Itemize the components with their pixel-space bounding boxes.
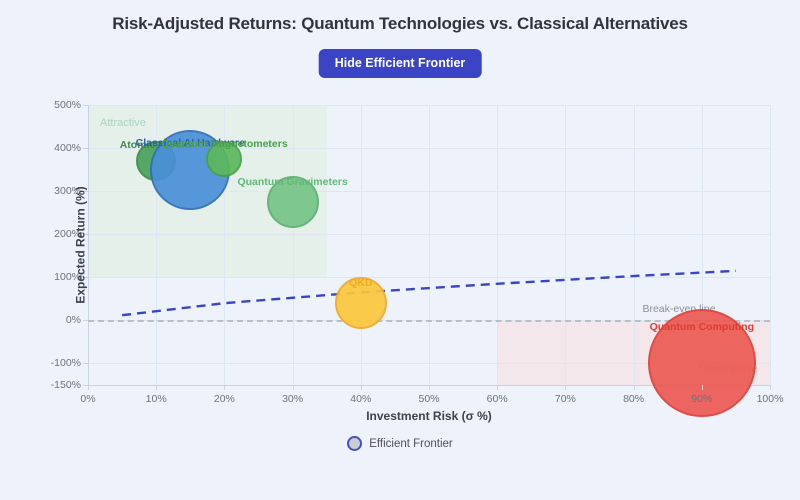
x-axis-tick-mark [224, 385, 225, 390]
y-axis-tick-mark [83, 363, 88, 364]
x-axis-tick-label: 60% [487, 393, 508, 405]
x-axis-tick-label: 40% [350, 393, 371, 405]
y-axis-tick-mark [83, 320, 88, 321]
bubble-label-quantum-computing: Quantum Computing [650, 321, 754, 333]
efficient-frontier-legend-icon [347, 436, 362, 451]
x-axis-tick-mark [770, 385, 771, 390]
toggle-efficient-frontier-button[interactable]: Hide Efficient Frontier [319, 49, 482, 78]
x-axis-tick-mark [293, 385, 294, 390]
x-axis-tick-label: 0% [80, 393, 95, 405]
page-title: Risk-Adjusted Returns: Quantum Technolog… [0, 14, 800, 34]
y-axis-tick-label: 400% [54, 142, 81, 154]
x-axis-tick-label: 70% [555, 393, 576, 405]
y-axis-title: Expected Return (%) [74, 186, 88, 303]
legend-item-label: Efficient Frontier [369, 438, 453, 450]
y-axis-tick-mark [83, 148, 88, 149]
plot-area: AttractiveUnattractiveBreak-even lineAto… [88, 105, 770, 385]
x-axis-tick-label: 80% [623, 393, 644, 405]
gridline-vertical [770, 105, 771, 385]
x-axis-tick-mark [702, 385, 703, 390]
x-axis-tick-label: 10% [146, 393, 167, 405]
bubble-label-qkd: QKD [349, 277, 372, 289]
x-axis-tick-label: 20% [214, 393, 235, 405]
x-axis-tick-mark [497, 385, 498, 390]
x-axis-tick-label: 100% [757, 393, 784, 405]
x-axis-tick-mark [634, 385, 635, 390]
x-axis-tick-mark [88, 385, 89, 390]
bubble-label-quantum-gravimeters: Quantum Gravimeters [237, 176, 347, 188]
x-axis-tick-mark [156, 385, 157, 390]
x-axis-tick-label: 90% [691, 393, 712, 405]
x-axis-tick-label: 50% [418, 393, 439, 405]
y-axis-tick-label: 500% [54, 99, 81, 111]
x-axis-tick-mark [361, 385, 362, 390]
x-axis-tick-label: 30% [282, 393, 303, 405]
x-axis-tick-mark [565, 385, 566, 390]
chart-legend: Efficient Frontier [0, 436, 800, 451]
y-axis-tick-label: 0% [66, 314, 81, 326]
x-axis-title: Investment Risk (σ %) [366, 409, 492, 423]
y-axis-tick-label: -100% [51, 357, 81, 369]
bubble-label-quantum-magnetometers: Quantum Magnetometers [161, 138, 288, 150]
y-axis-tick-mark [83, 105, 88, 106]
y-axis-tick-label: -150% [51, 379, 81, 391]
x-axis-tick-mark [429, 385, 430, 390]
chart-page: Risk-Adjusted Returns: Quantum Technolog… [0, 0, 800, 500]
